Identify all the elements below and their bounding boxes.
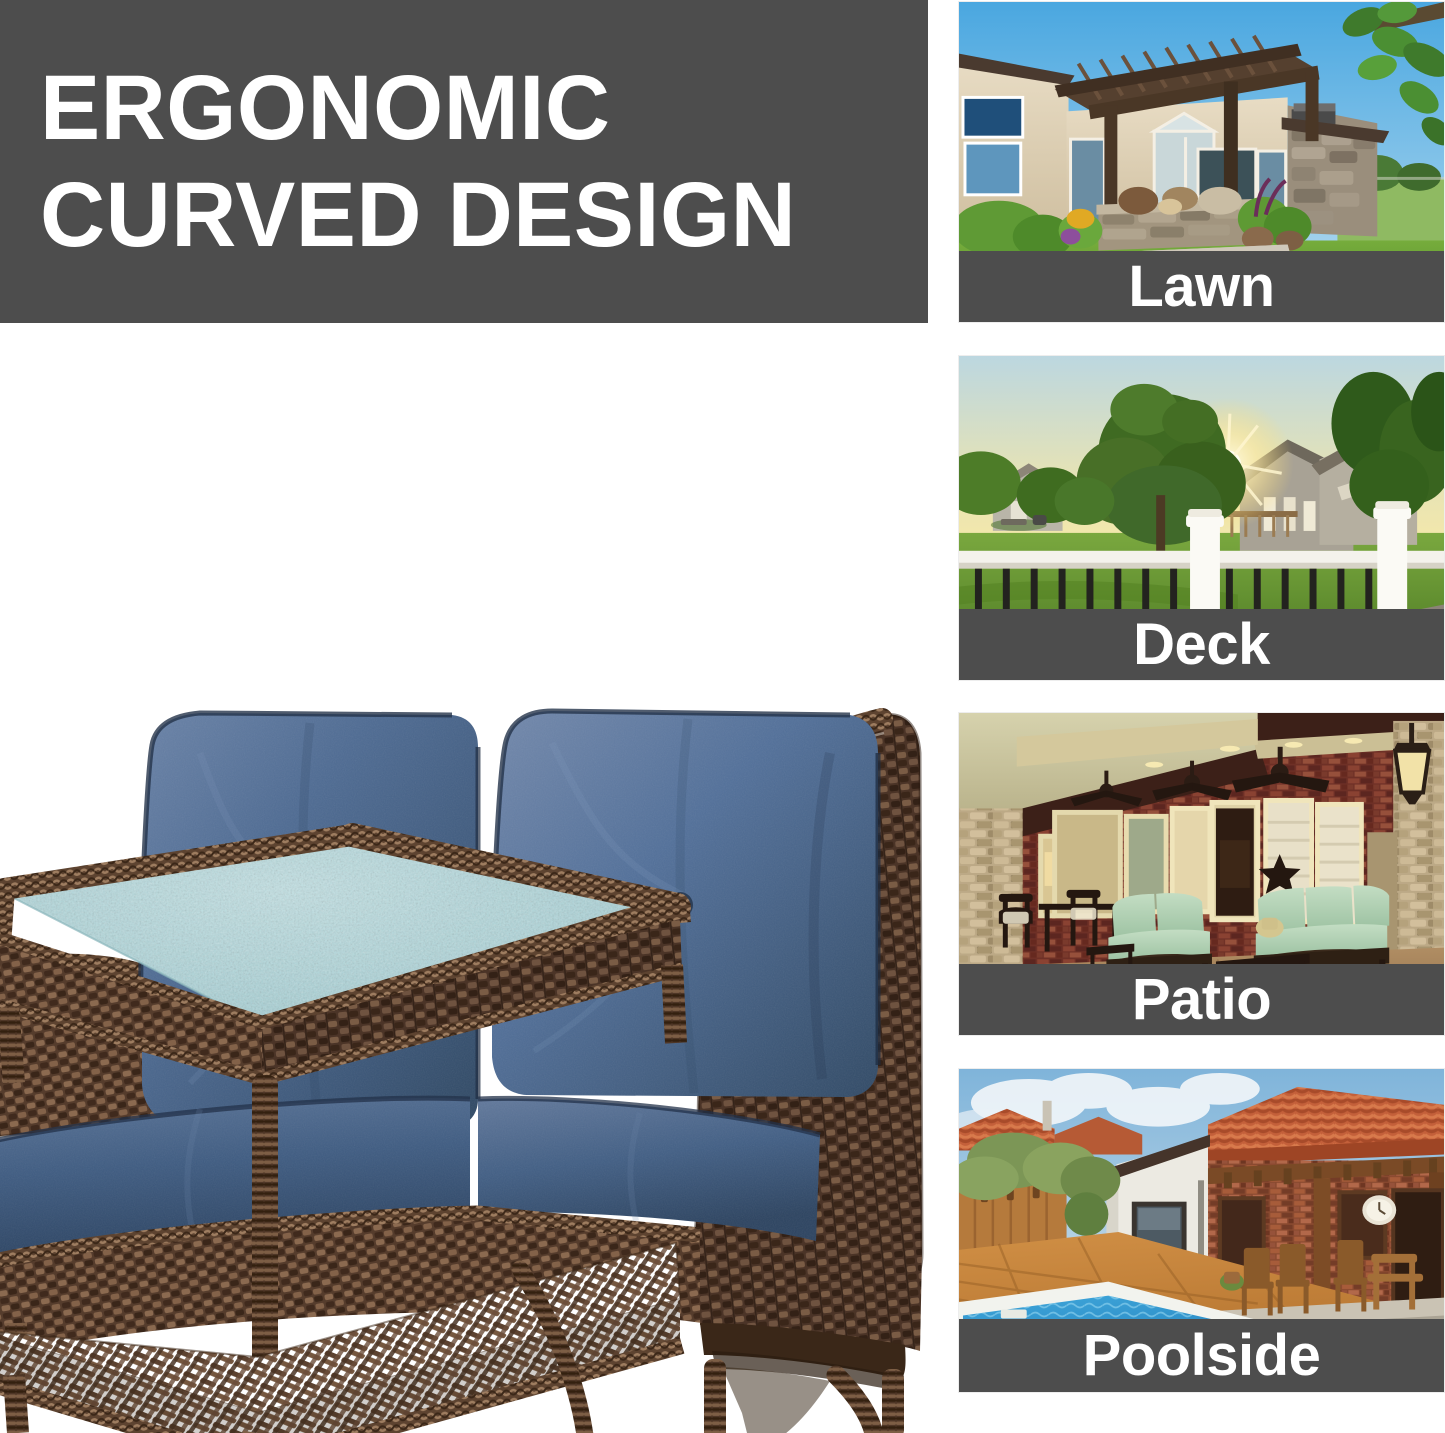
product-photo bbox=[0, 323, 950, 1433]
scene-panel-deck: Deck bbox=[958, 355, 1445, 681]
scene-label-deck: Deck bbox=[959, 609, 1444, 680]
scene-panel-poolside: Poolside bbox=[958, 1068, 1445, 1393]
marketing-image: ERGONOMIC CURVED DESIGN bbox=[0, 0, 1445, 1433]
headline-line-1: ERGONOMIC bbox=[40, 55, 910, 162]
headline-banner: ERGONOMIC CURVED DESIGN bbox=[0, 0, 928, 323]
scene-label-patio: Patio bbox=[959, 964, 1444, 1035]
loveseat-leg-front bbox=[704, 1359, 726, 1433]
scene-panel-lawn: Lawn bbox=[958, 1, 1445, 323]
product-photo-illustration bbox=[0, 323, 950, 1433]
scene-label-lawn: Lawn bbox=[959, 251, 1444, 322]
scene-panel-patio: Patio bbox=[958, 712, 1445, 1036]
table-leg-left-rear bbox=[8, 1007, 14, 1083]
headline-line-2: CURVED DESIGN bbox=[40, 162, 910, 269]
loveseat-leg-back bbox=[882, 1369, 904, 1433]
table-leg-right-rear bbox=[672, 965, 676, 1043]
scene-label-poolside: Poolside bbox=[959, 1319, 1444, 1392]
